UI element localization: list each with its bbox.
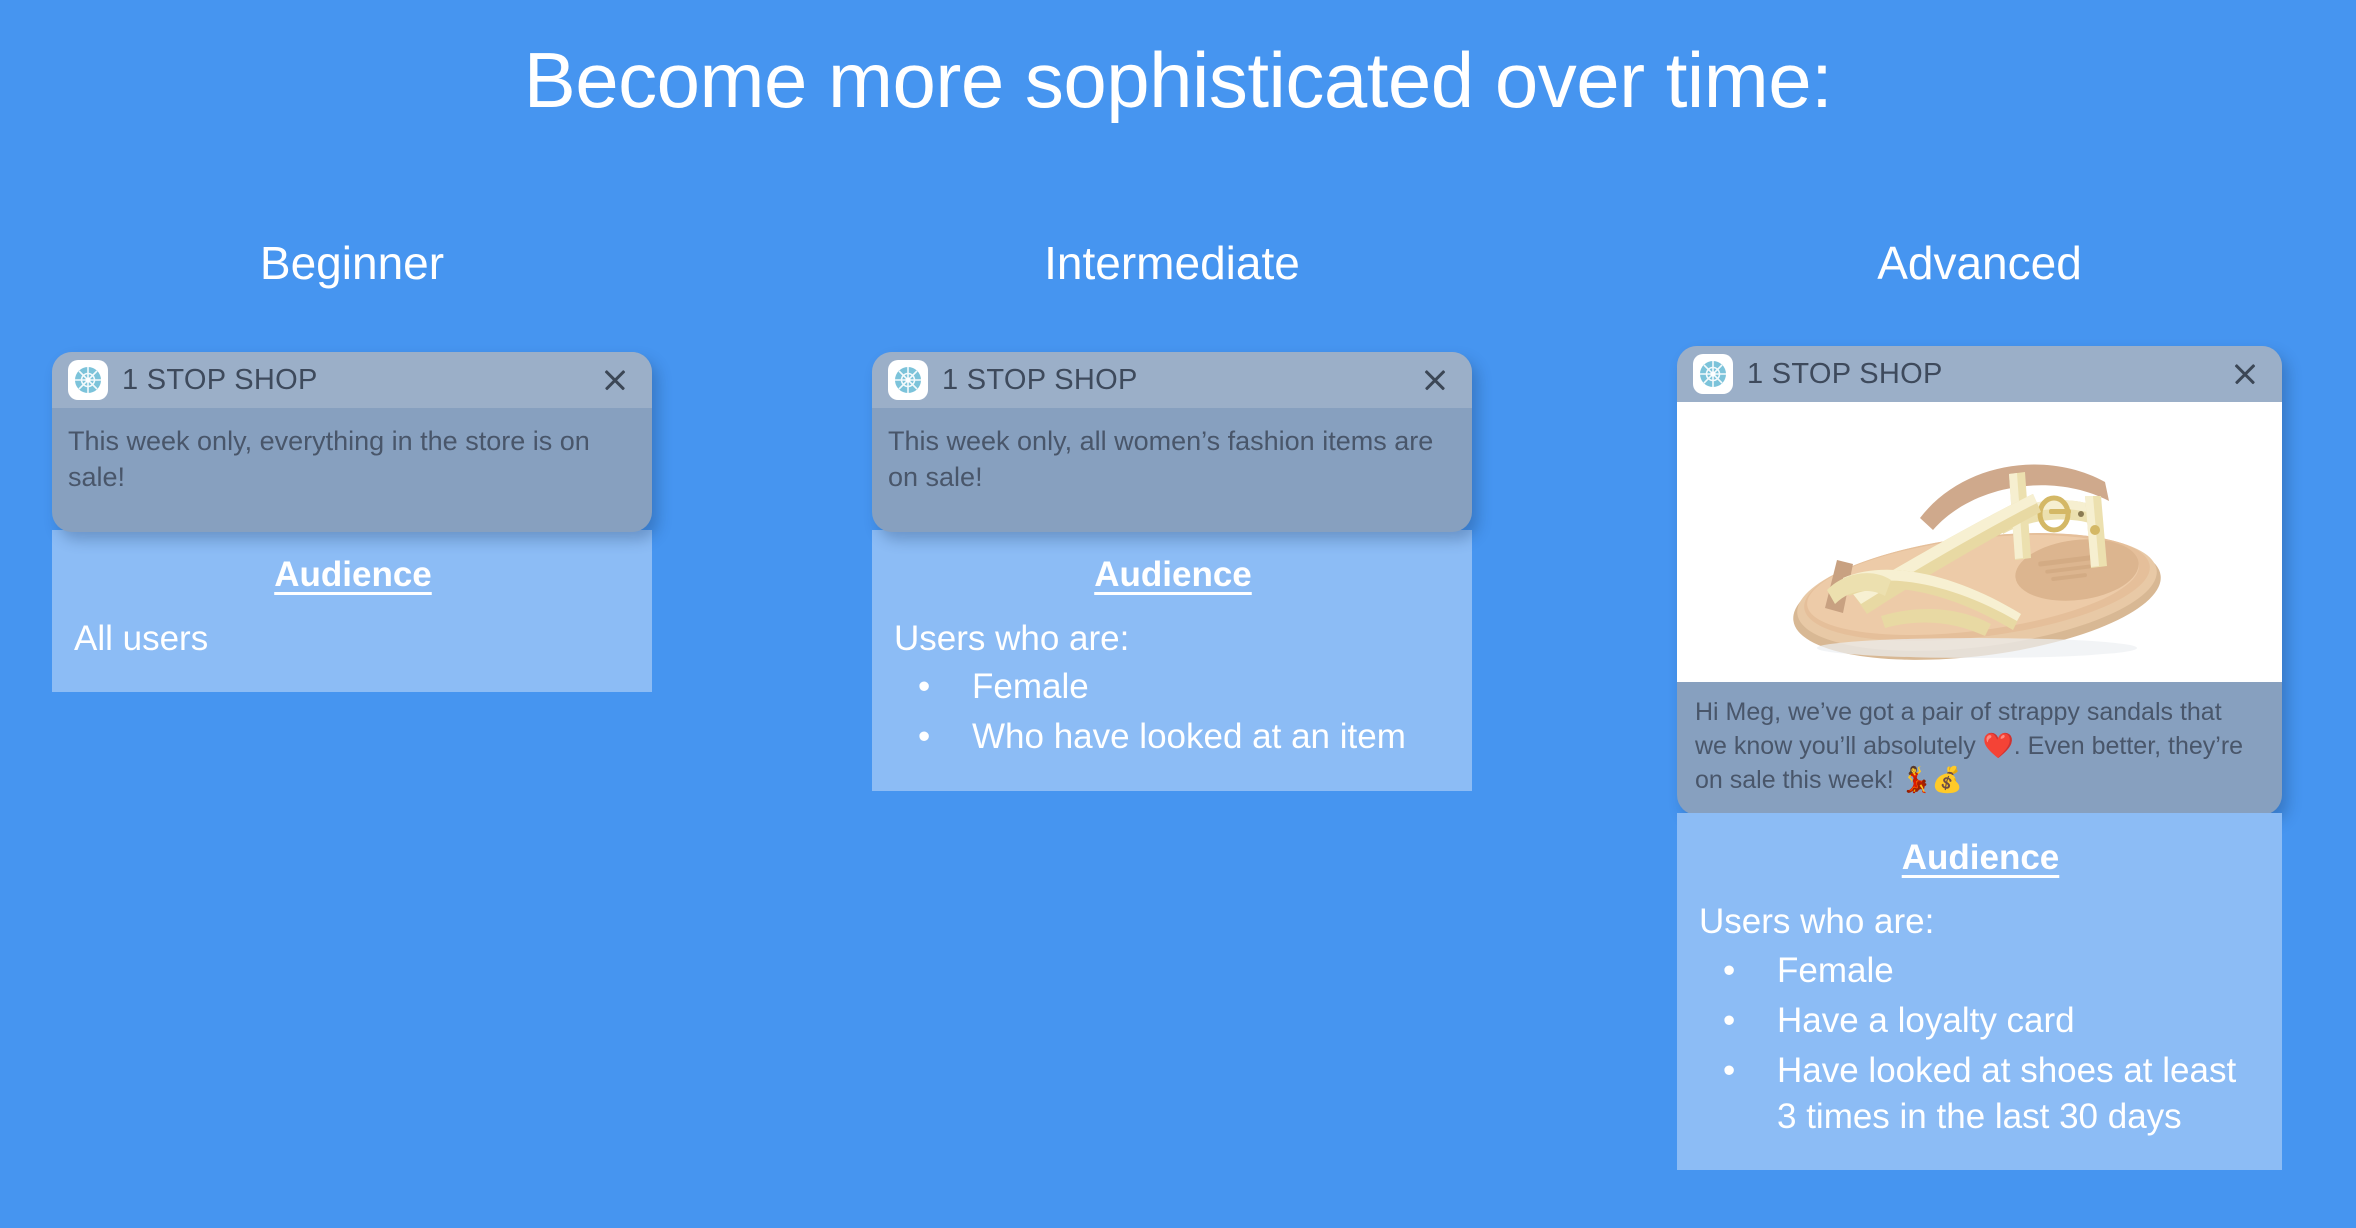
notification-header: 1 STOP SHOP [1677, 346, 2282, 402]
notification-card-advanced[interactable]: 1 STOP SHOP [1677, 346, 2282, 815]
audience-lead: All users [74, 617, 632, 661]
column-advanced: Advanced 1 [1677, 240, 2282, 1170]
column-header-beginner: Beginner [52, 240, 652, 300]
audience-lead: Users who are: [894, 617, 1452, 661]
audience-title: Audience [1699, 839, 2262, 878]
one-stop-shop-app-icon [68, 360, 108, 400]
column-intermediate: Intermediate [872, 240, 1472, 791]
audience-panel-advanced: Audience Users who are: FemaleHave a loy… [1677, 813, 2282, 1170]
columns-container: Beginner 1 [0, 240, 2356, 1220]
audience-criteria-item: Have a loyalty card [1699, 998, 2262, 1044]
notification-header: 1 STOP SHOP [52, 352, 652, 408]
notification-header: 1 STOP SHOP [872, 352, 1472, 408]
audience-title: Audience [894, 556, 1452, 595]
audience-criteria-list: FemaleHave a loyalty cardHave looked at … [1699, 948, 2262, 1141]
column-beginner: Beginner 1 [52, 240, 652, 692]
audience-criteria-item: Have looked at shoes at least 3 times in… [1699, 1048, 2262, 1140]
page-title: Become more sophisticated over time: [0, 38, 2356, 124]
gold-strappy-sandal-product-photo [1677, 402, 2282, 682]
close-icon[interactable] [1420, 365, 1450, 395]
close-icon[interactable] [600, 365, 630, 395]
notification-card-beginner[interactable]: 1 STOP SHOP This week only, everything i… [52, 352, 652, 532]
audience-criteria-item: Female [894, 664, 1452, 710]
notification-message: This week only, everything in the store … [52, 408, 652, 515]
audience-criteria-item: Female [1699, 948, 2262, 994]
audience-panel-beginner: Audience All users [52, 530, 652, 692]
notification-app-name: 1 STOP SHOP [1747, 358, 1943, 391]
notification-card-intermediate[interactable]: 1 STOP SHOP This week only, all women’s … [872, 352, 1472, 532]
column-header-advanced: Advanced [1677, 240, 2282, 300]
close-icon[interactable] [2230, 359, 2260, 389]
audience-criteria-item: Who have looked at an item [894, 714, 1452, 760]
audience-title: Audience [74, 556, 632, 595]
column-header-intermediate: Intermediate [872, 240, 1472, 300]
notification-app-name: 1 STOP SHOP [122, 364, 318, 397]
notification-app-name: 1 STOP SHOP [942, 364, 1138, 397]
audience-lead: Users who are: [1699, 900, 2262, 944]
audience-panel-intermediate: Audience Users who are: FemaleWho have l… [872, 530, 1472, 791]
one-stop-shop-app-icon [888, 360, 928, 400]
notification-message: Hi Meg, we’ve got a pair of strappy sand… [1677, 682, 2282, 815]
notification-message: This week only, all women’s fashion item… [872, 408, 1472, 515]
audience-criteria-list: FemaleWho have looked at an item [894, 664, 1452, 760]
one-stop-shop-app-icon [1693, 354, 1733, 394]
